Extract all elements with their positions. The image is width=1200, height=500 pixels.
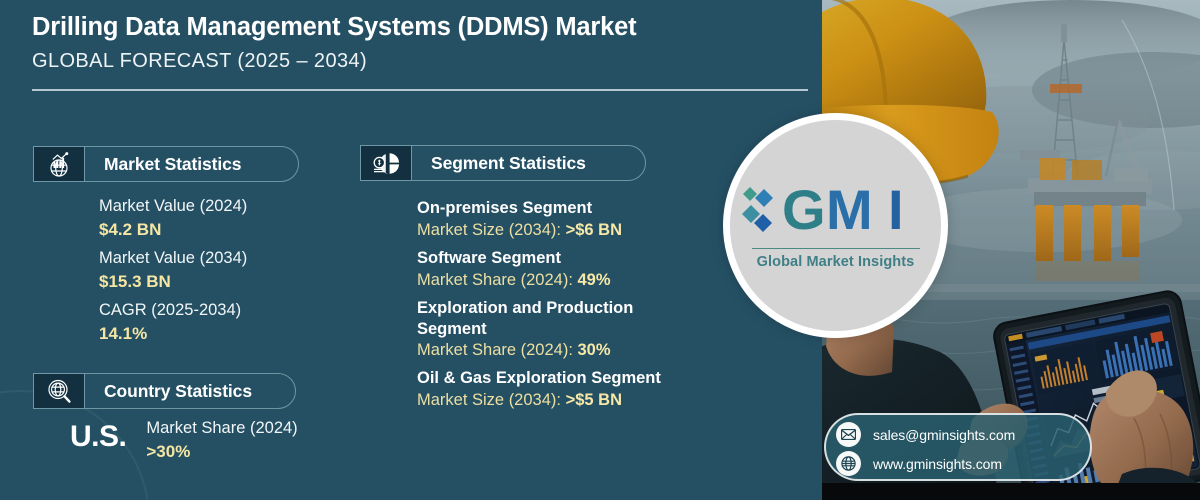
stat-label: Market Value (2034) — [99, 248, 349, 270]
contact-website-row[interactable]: www.gminsights.com — [836, 450, 1090, 477]
segment-metric-value: >$6 BN — [566, 221, 622, 239]
segment-item: Software Segment Market Share (2024): 49… — [417, 248, 737, 291]
globe-bar-chart-icon — [33, 146, 85, 182]
stat-label: CAGR (2025-2034) — [99, 300, 349, 322]
globe-icon — [836, 451, 861, 476]
logo-wordmark: G M I — [782, 181, 930, 243]
contact-panel: sales@gminsights.com www.gminsights.com — [824, 413, 1092, 481]
page-subtitle: GLOBAL FORECAST (2025 – 2034) — [32, 50, 367, 73]
page-title: Drilling Data Management Systems (DDMS) … — [32, 12, 772, 43]
envelope-icon — [836, 422, 861, 447]
country-statistics-body: U.S. Market Share (2024) >30% — [70, 418, 400, 464]
segment-statistics-pill: Segment Statistics — [378, 145, 646, 181]
gmi-logo: G M I Global Market Insights — [723, 113, 948, 338]
market-statistics-heading: Market Statistics — [104, 154, 241, 175]
segment-metric-value: 30% — [578, 341, 611, 359]
segment-metric-value: >$5 BN — [566, 391, 622, 409]
logo-mark: G M I — [742, 181, 930, 243]
country-statistics-pill: Country Statistics — [51, 373, 296, 409]
content-panel: Drilling Data Management Systems (DDMS) … — [0, 0, 822, 500]
photo-bottom-band — [822, 483, 1200, 500]
segment-name: Software Segment — [417, 248, 737, 269]
country-metric-value: >30% — [146, 440, 297, 464]
stat-value: $15.3 BN — [99, 270, 349, 294]
stat-row: Market Value (2024) $4.2 BN — [99, 196, 349, 242]
segment-statistics-heading: Segment Statistics — [431, 153, 586, 174]
globe-magnifier-icon — [33, 373, 85, 409]
segment-name: On-premises Segment — [417, 198, 737, 219]
contact-email: sales@gminsights.com — [873, 427, 1015, 443]
infographic-root: Drilling Data Management Systems (DDMS) … — [0, 0, 1200, 500]
country-metrics: Market Share (2024) >30% — [146, 418, 297, 464]
contact-email-row[interactable]: sales@gminsights.com — [836, 421, 1090, 448]
pie-chart-coin-icon — [360, 145, 412, 181]
segment-name: Exploration and Production Segment — [417, 298, 679, 340]
svg-text:M: M — [826, 181, 872, 241]
country-metric-label: Market Share (2024) — [146, 418, 297, 440]
svg-text:I: I — [888, 181, 904, 241]
country-statistics-heading: Country Statistics — [104, 381, 252, 402]
stat-row: CAGR (2025-2034) 14.1% — [99, 300, 349, 346]
segment-metric-label: Market Share (2024): — [417, 341, 573, 359]
segment-metric-value: 49% — [578, 271, 611, 289]
segment-statistics-list: On-premises Segment Market Size (2034): … — [417, 198, 737, 418]
segment-metric: Market Share (2024): 30% — [417, 339, 737, 361]
market-statistics-list: Market Value (2024) $4.2 BN Market Value… — [99, 196, 349, 352]
segment-name: Oil & Gas Exploration Segment — [417, 368, 737, 389]
segment-metric: Market Share (2024): 49% — [417, 269, 737, 291]
gmi-diamond-icon — [742, 183, 782, 241]
title-divider — [32, 89, 808, 91]
svg-text:G: G — [782, 181, 825, 241]
country-code: U.S. — [70, 422, 126, 452]
stat-label: Market Value (2024) — [99, 196, 349, 218]
segment-metric-label: Market Size (2034): — [417, 221, 561, 239]
segment-metric: Market Size (2034): >$6 BN — [417, 219, 737, 241]
segment-metric-label: Market Size (2034): — [417, 391, 561, 409]
stat-row: Market Value (2034) $15.3 BN — [99, 248, 349, 294]
segment-item: Oil & Gas Exploration Segment Market Siz… — [417, 368, 737, 411]
logo-tagline: Global Market Insights — [752, 248, 920, 270]
segment-metric: Market Size (2034): >$5 BN — [417, 389, 737, 411]
stat-value: 14.1% — [99, 322, 349, 346]
segment-item: Exploration and Production Segment Marke… — [417, 298, 737, 362]
market-statistics-pill: Market Statistics — [51, 146, 299, 182]
contact-website: www.gminsights.com — [873, 456, 1002, 472]
stat-value: $4.2 BN — [99, 218, 349, 242]
segment-item: On-premises Segment Market Size (2034): … — [417, 198, 737, 241]
segment-metric-label: Market Share (2024): — [417, 271, 573, 289]
